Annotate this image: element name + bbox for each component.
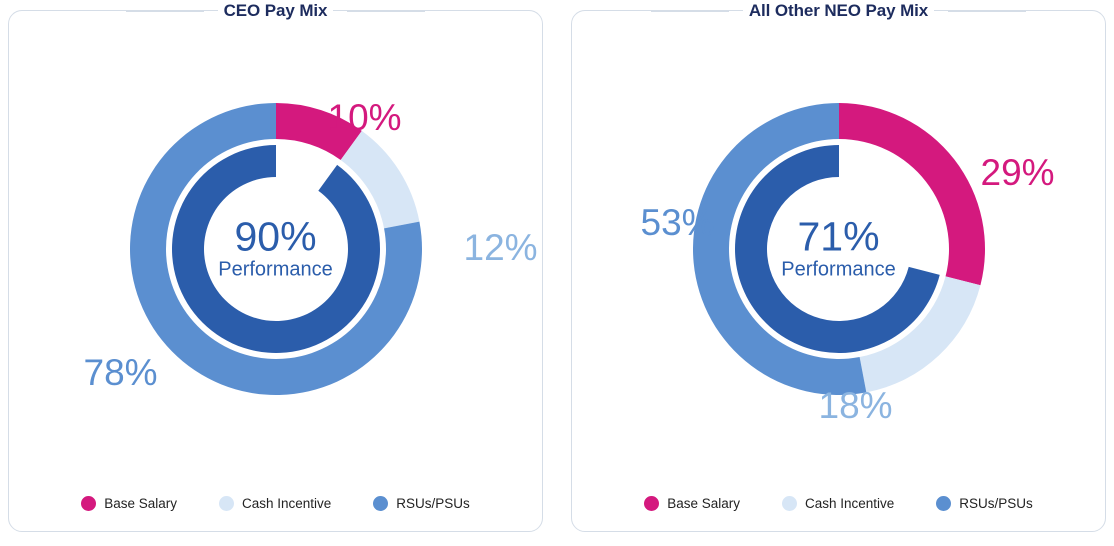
base-salary-label: 29% (981, 154, 1055, 191)
donut-segment-performance (735, 145, 940, 353)
legend-item-label: Cash Incentive (242, 496, 331, 511)
legend-item-label: Cash Incentive (805, 496, 894, 511)
title-rule-left (126, 10, 204, 12)
legend-item-label: Base Salary (667, 496, 740, 511)
chart-legend: Base SalaryCash IncentiveRSUs/PSUs (9, 496, 542, 511)
legend-color-swatch-icon (644, 496, 659, 511)
donut-segment-performance (172, 145, 380, 353)
legend-color-swatch-icon (81, 496, 96, 511)
donut-chart (126, 99, 426, 399)
title-rule-right (347, 10, 425, 12)
donut-wrapper: 90%Performance10%12%78% (66, 49, 486, 449)
legend-color-swatch-icon (782, 496, 797, 511)
pay-mix-dashboard: CEO Pay Mix90%Performance10%12%78%Base S… (0, 0, 1114, 546)
legend-color-swatch-icon (219, 496, 234, 511)
donut-chart (689, 99, 989, 399)
legend-item-label: Base Salary (104, 496, 177, 511)
legend-item: Cash Incentive (219, 496, 331, 511)
cash-incentive-label: 12% (464, 229, 538, 266)
legend-color-swatch-icon (373, 496, 388, 511)
page-title: All Other NEO Pay Mix (743, 1, 934, 21)
donut-segment-base-salary (839, 103, 985, 285)
page-title: CEO Pay Mix (218, 1, 334, 21)
legend-item: Cash Incentive (782, 496, 894, 511)
donut-wrapper: 71%Performance29%18%53% (629, 49, 1049, 449)
legend-item-label: RSUs/PSUs (396, 496, 470, 511)
chart-area: 90%Performance10%12%78% (9, 29, 542, 469)
legend-item: Base Salary (644, 496, 740, 511)
title-rule-right (948, 10, 1026, 12)
legend-color-swatch-icon (936, 496, 951, 511)
legend-item: RSUs/PSUs (936, 496, 1033, 511)
title-rule-left (651, 10, 729, 12)
legend-item-label: RSUs/PSUs (959, 496, 1033, 511)
pay-mix-card-ceo: CEO Pay Mix90%Performance10%12%78%Base S… (8, 10, 543, 532)
legend-item: Base Salary (81, 496, 177, 511)
chart-legend: Base SalaryCash IncentiveRSUs/PSUs (572, 496, 1105, 511)
card-title-bar: All Other NEO Pay Mix (572, 0, 1105, 22)
card-title-bar: CEO Pay Mix (9, 0, 542, 22)
pay-mix-card-all-other-neo: All Other NEO Pay Mix71%Performance29%18… (571, 10, 1106, 532)
chart-area: 71%Performance29%18%53% (572, 29, 1105, 469)
legend-item: RSUs/PSUs (373, 496, 470, 511)
